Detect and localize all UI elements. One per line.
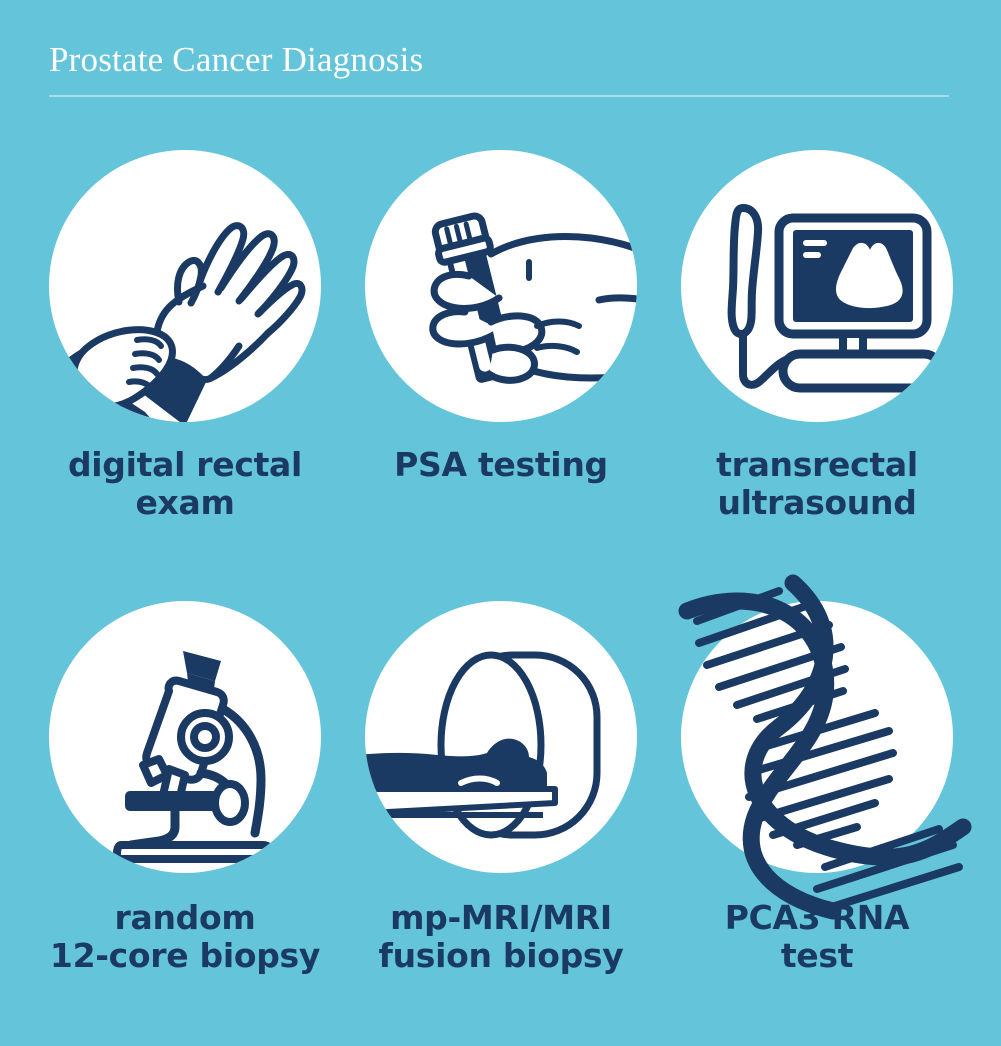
mri-scanner-icon [341,577,661,897]
grid-row: digital rectal exam [0,115,1001,570]
grid-cell-mp-mri-fusion-biopsy[interactable]: mp-MRI/MRI fusion biopsy [343,570,659,976]
grid-cell-transrectal-ultrasound[interactable]: transrectal ultrasound [659,115,975,523]
microscope-icon [25,577,345,897]
blood-test-tube-icon [341,126,661,446]
icon-circle [681,150,953,422]
grid-row: random 12-core biopsy [0,570,1001,1025]
grid-cell-pca3-rna-test[interactable]: PCA3 RNA test [659,570,975,976]
icon-circle [49,150,321,422]
icon-circle [365,150,637,422]
cell-label: mp-MRI/MRI fusion biopsy [343,899,659,976]
icon-circle [49,601,321,873]
cell-label: transrectal ultrasound [659,446,975,523]
cell-label: digital rectal exam [27,446,343,523]
gloved-hands-icon [25,126,345,446]
header: Prostate Cancer Diagnosis [0,0,1001,115]
grid-cell-random-12-core-biopsy[interactable]: random 12-core biopsy [27,570,343,976]
icon-circle [365,601,637,873]
icon-circle [681,601,953,873]
dna-helix-icon [657,577,977,897]
page-title: Prostate Cancer Diagnosis [49,40,423,80]
title-divider [49,95,949,97]
cell-label: random 12-core biopsy [27,899,343,976]
cell-label: PSA testing [343,446,659,484]
ultrasound-machine-icon [657,126,977,446]
grid-cell-digital-rectal-exam[interactable]: digital rectal exam [27,115,343,523]
diagnosis-grid: digital rectal exam [0,115,1001,1046]
grid-cell-psa-testing[interactable]: PSA testing [343,115,659,484]
